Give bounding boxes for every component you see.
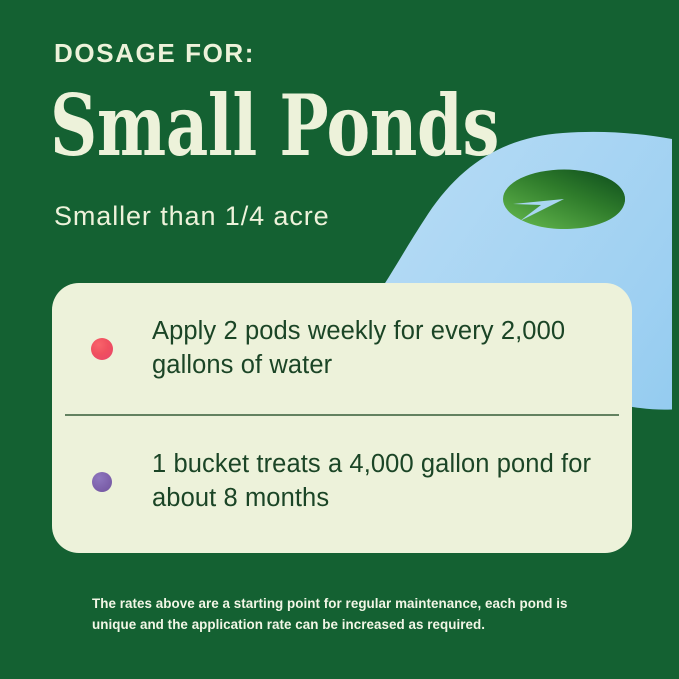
right-edge-strip xyxy=(673,0,679,679)
footnote-disclaimer: The rates above are a starting point for… xyxy=(92,594,612,636)
page-subtitle: Smaller than 1/4 acre xyxy=(54,203,330,230)
bullet-dot-purple-icon xyxy=(92,472,112,492)
bullet-dot-red-wrap xyxy=(52,338,152,360)
dosage-card: Apply 2 pods weekly for every 2,000 gall… xyxy=(52,283,632,553)
lily-pad xyxy=(503,170,625,230)
dosage-bullet-2: 1 bucket treats a 4,000 gallon pond for … xyxy=(52,416,632,547)
bullet-dot-red-icon xyxy=(91,338,113,360)
eyebrow-label: DOSAGE FOR: xyxy=(54,40,255,66)
dosage-bullet-1: Apply 2 pods weekly for every 2,000 gall… xyxy=(52,283,632,414)
dosage-infographic: DOSAGE FOR: Small Ponds Smaller than 1/4… xyxy=(0,0,679,679)
bullet-dot-purple-wrap xyxy=(52,472,152,492)
page-title: Small Ponds xyxy=(50,84,499,168)
dosage-bullet-2-text: 1 bucket treats a 4,000 gallon pond for … xyxy=(152,448,632,515)
dosage-bullet-1-text: Apply 2 pods weekly for every 2,000 gall… xyxy=(152,315,632,382)
